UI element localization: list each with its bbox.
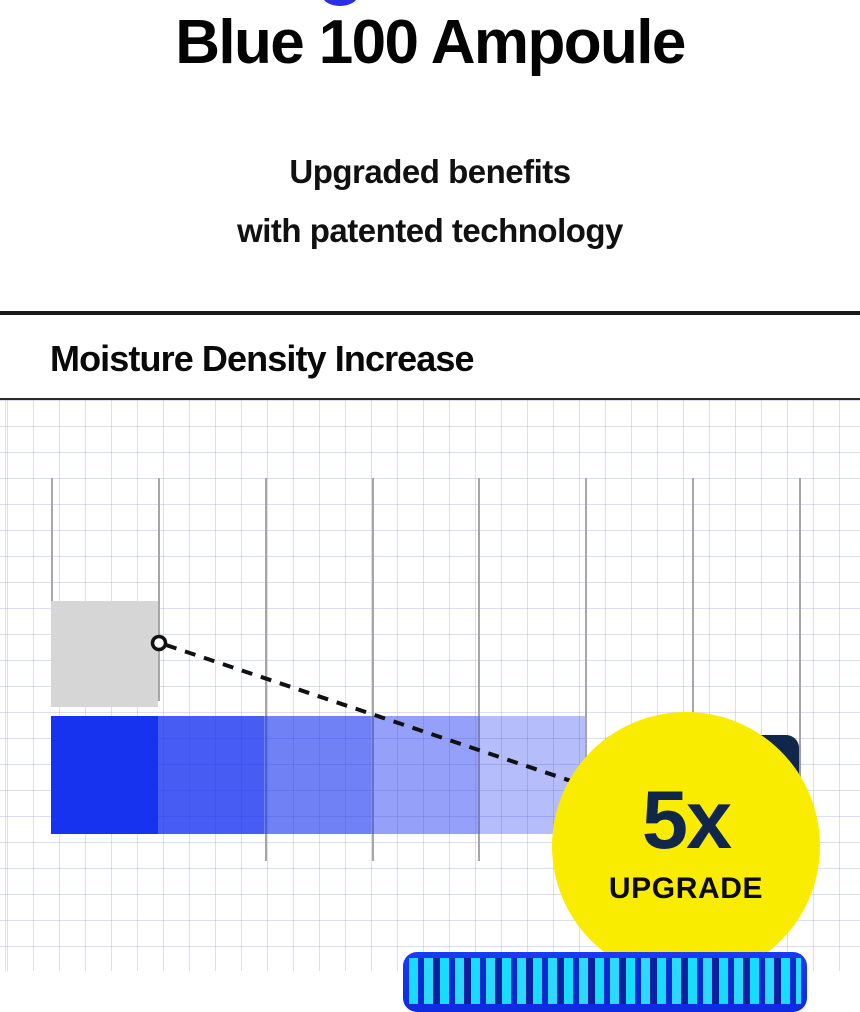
hero-subtitle-line-1: Upgraded benefits <box>0 142 860 201</box>
page-title: Blue 100 Ampoule <box>0 8 860 77</box>
top-blue-badge-icon <box>322 0 358 6</box>
bar-first-generation <box>51 601 158 707</box>
bar-second-generation <box>51 716 585 834</box>
bar-segment-1 <box>51 716 158 834</box>
bar-segment-4 <box>371 716 478 834</box>
chart-header: Moisture Density Increase <box>0 315 860 398</box>
bottom-cta-button-content <box>409 958 801 1004</box>
hero-subtitle-line-2: with patented technology <box>0 201 860 260</box>
chart-title: Moisture Density Increase <box>50 338 474 380</box>
hero-subtitle: Upgraded benefits with patented technolo… <box>0 142 860 261</box>
bar-segment-2 <box>158 716 264 834</box>
gridline-tick-2 <box>158 478 160 701</box>
chart-panel: Moisture Density Increase 52 <box>0 315 860 971</box>
hero-section: Blue 100 Ampoule Upgraded benefits with … <box>0 0 860 313</box>
plot-area: 521.9% 5x UPGRADE <box>0 400 860 971</box>
bar-segment-3 <box>264 716 371 834</box>
upgrade-badge: 5x UPGRADE <box>552 712 820 971</box>
upgrade-multiplier: 5x <box>642 780 730 860</box>
upgrade-caption: UPGRADE <box>609 872 763 906</box>
bottom-cta-button[interactable] <box>403 952 807 1012</box>
